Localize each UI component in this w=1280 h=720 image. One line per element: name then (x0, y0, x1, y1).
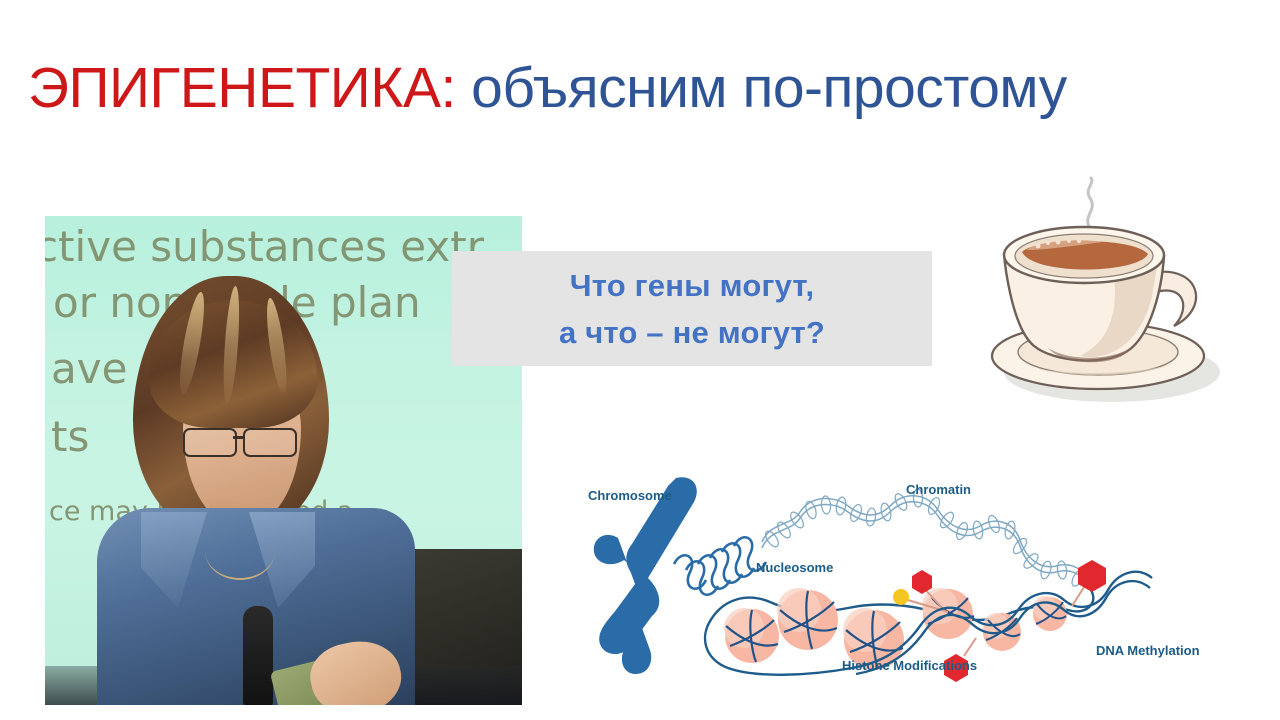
label-histone-modifications: Histone Modifications (842, 658, 977, 673)
slide-canvas: ЭПИГЕНЕТИКА: объясним по-простому ctive … (0, 0, 1280, 720)
label-chromatin: Chromatin (906, 482, 971, 497)
screen-text-line-1: ctive substances extr (45, 222, 484, 271)
title-red-part: ЭПИГЕНЕТИКА: (28, 56, 456, 120)
chromatin-diagram-svg: Chromosome Chromatin Nucleosome Histone … (556, 460, 1246, 712)
methyl-hexagon (912, 570, 932, 594)
acetyl-circle (893, 589, 909, 605)
epigenetics-diagram: Chromosome Chromatin Nucleosome Histone … (556, 460, 1246, 712)
caption-line-1: Что гены могут, (570, 262, 815, 309)
screen-text-line-4: ts (51, 412, 89, 461)
caption-line-2: а что – не могут? (559, 309, 825, 356)
chromosome-shape (594, 477, 697, 674)
presenter-glasses (181, 428, 307, 454)
label-chromosome: Chromosome (588, 488, 672, 503)
presenter-necklace (205, 522, 275, 580)
presenter-figure (97, 276, 417, 705)
presenter-photo: ctive substances extr or nonedible plan … (45, 216, 522, 705)
glasses-lens-left (183, 428, 237, 457)
coffee-cup-icon (962, 176, 1244, 420)
label-nucleosome: Nucleosome (756, 560, 833, 575)
coffee-cup-illustration (962, 176, 1244, 420)
title-blue-part: объясним по-простому (456, 56, 1067, 120)
condensed-chromatin-coil (674, 537, 766, 594)
glasses-lens-right (243, 428, 297, 457)
methyl-hexagon (1078, 560, 1106, 592)
question-caption-box: Что гены могут, а что – не могут? (452, 251, 932, 366)
page-title: ЭПИГЕНЕТИКА: объясним по-простому (28, 56, 1258, 120)
label-dna-methylation: DNA Methylation (1096, 643, 1200, 658)
microphone (243, 606, 273, 705)
